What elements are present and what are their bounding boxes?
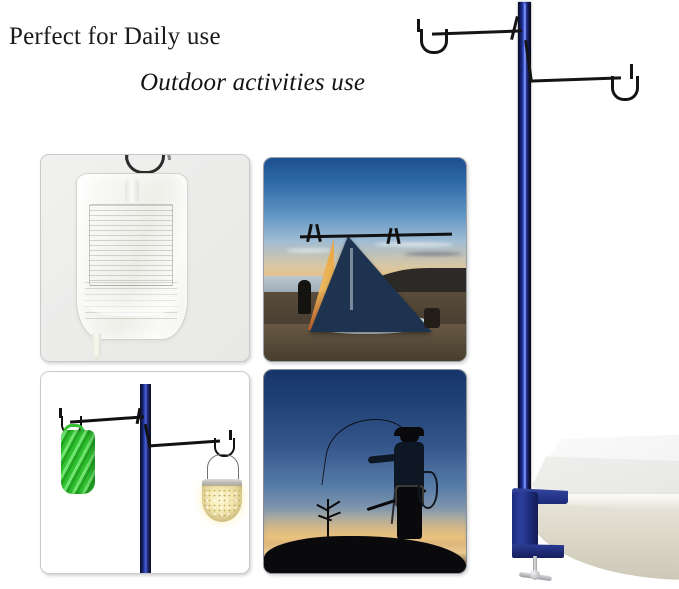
hero-product (400, 0, 679, 589)
tent-seam (350, 248, 353, 310)
headline-primary: Perfect for Daily use (9, 24, 221, 49)
product-pole-highlight (524, 4, 526, 498)
product-hook-upper-icon (420, 29, 448, 54)
product-hook-lower-icon (611, 76, 639, 101)
pole-accessories-scene (41, 372, 249, 573)
lantern-fairy-lights (204, 490, 240, 518)
product-hook-lower-tip (630, 64, 633, 79)
iv-bag-body (76, 173, 188, 340)
iv-bag-label (89, 204, 173, 286)
iv-bag-fold (83, 286, 179, 316)
fishing-bare-tree (314, 499, 342, 539)
iv-bag-neck (125, 180, 139, 202)
iv-bag-scene (41, 155, 249, 361)
clamp-handle-knob (530, 570, 540, 580)
panel-iv-bag (40, 154, 250, 362)
hook-right-tip (229, 430, 232, 440)
tree-branch (328, 500, 341, 509)
product-hook-upper-tip (417, 19, 420, 32)
product-hook-arm-lower (529, 76, 621, 82)
tree-branch (327, 511, 341, 518)
clamp-lower-jaw (512, 544, 564, 558)
infographic-canvas: Perfect for Daily use Outdoor activities… (0, 0, 679, 589)
tent-person-silhouette (298, 280, 311, 314)
pole-shaft (140, 384, 151, 574)
headline-secondary: Outdoor activities use (140, 70, 365, 95)
iv-bag-drip (95, 355, 98, 362)
rope-coil (61, 430, 95, 494)
hook-left-tip (59, 408, 62, 418)
panel-pole-accessories (40, 371, 250, 574)
